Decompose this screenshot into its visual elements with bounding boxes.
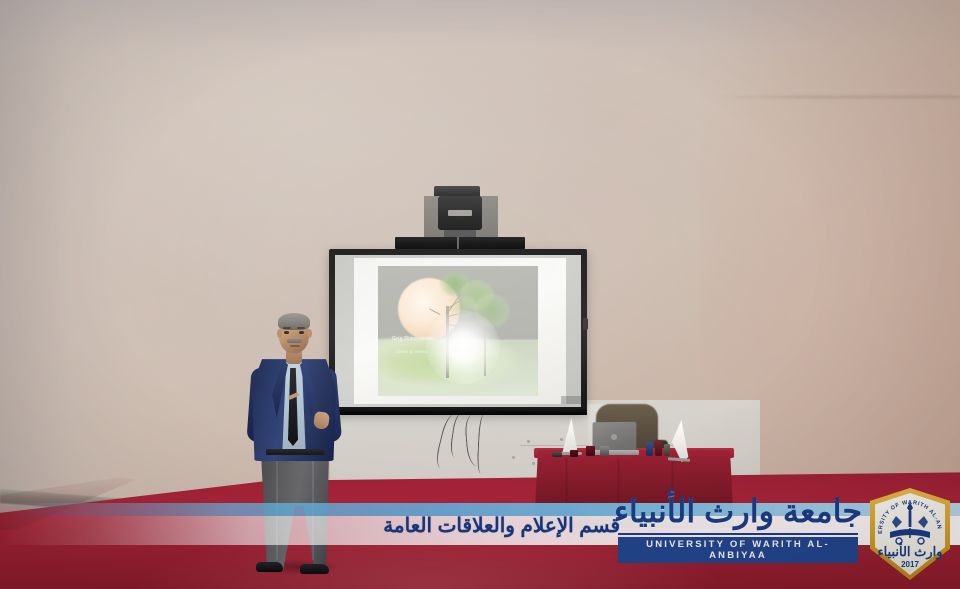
laptop-brand-logo bbox=[611, 434, 617, 440]
emblem-founding-year: 2017 bbox=[874, 560, 946, 569]
table-bottle bbox=[655, 440, 662, 456]
emblem-book-and-minaret-icon bbox=[886, 500, 934, 546]
whiteboard-side-button[interactable] bbox=[583, 318, 588, 330]
slide-subtitle: Clean & Green bbox=[396, 349, 428, 354]
presenter-eye bbox=[284, 331, 289, 334]
panel-screw bbox=[560, 438, 563, 441]
table-bottle bbox=[646, 442, 653, 456]
presenter-eyebrow bbox=[297, 327, 305, 329]
whiteboard-brand-mark bbox=[561, 396, 581, 404]
panel-screw bbox=[527, 440, 530, 443]
logo-divider-rule bbox=[618, 533, 858, 535]
panel-screw bbox=[532, 462, 535, 465]
table-cup bbox=[570, 450, 578, 457]
university-name-english: UNIVERSITY OF WARITH AL-ANBIYAA bbox=[618, 537, 858, 563]
university-name-arabic: جامعة وارث الأنبياء bbox=[612, 492, 864, 530]
presenter-mustache bbox=[287, 339, 302, 343]
presenter-belt bbox=[266, 449, 324, 455]
event-photograph: Grip Dimensions Clean & Green bbox=[0, 0, 960, 589]
presenter-ear bbox=[307, 329, 312, 338]
department-label: قسم الإعلام والعلاقات العامة bbox=[300, 515, 620, 537]
presenter-eye bbox=[299, 331, 304, 334]
presenter-mouth bbox=[290, 345, 300, 347]
presenter-floor-shadow bbox=[236, 556, 356, 578]
projector-lens bbox=[448, 210, 472, 216]
speaker-bar bbox=[395, 237, 525, 249]
projector-foot bbox=[444, 230, 476, 237]
presenter-ear bbox=[277, 329, 282, 338]
table-cup bbox=[600, 446, 609, 456]
presenter-eyebrow bbox=[283, 327, 291, 329]
trouser-crease bbox=[276, 456, 278, 560]
projector-glare bbox=[426, 310, 500, 384]
wall-seam-line bbox=[718, 96, 960, 98]
presenter-shoe bbox=[300, 564, 329, 574]
speaker-bar-joint bbox=[457, 237, 459, 249]
university-emblem: UNIVERSITY OF WARITH AL-ANBIYAA وارث الأ… bbox=[864, 486, 956, 582]
left-wall-shadow bbox=[0, 0, 130, 520]
laptop-keyboard-base[interactable] bbox=[589, 450, 639, 455]
emblem-arabic-top: وارث الأنبياء bbox=[874, 544, 946, 560]
university-logo-lockup: جامعة وارث الأنبياء UNIVERSITY OF WARITH… bbox=[612, 486, 957, 584]
trouser-crease bbox=[312, 456, 314, 560]
table-cup bbox=[586, 446, 595, 456]
panel-screw bbox=[512, 456, 515, 459]
table-item bbox=[552, 452, 562, 457]
projector-mount bbox=[434, 186, 480, 196]
presenter-shoe bbox=[256, 562, 283, 572]
presentation-slide: Grip Dimensions Clean & Green bbox=[378, 266, 538, 396]
table-bottle bbox=[664, 444, 670, 456]
